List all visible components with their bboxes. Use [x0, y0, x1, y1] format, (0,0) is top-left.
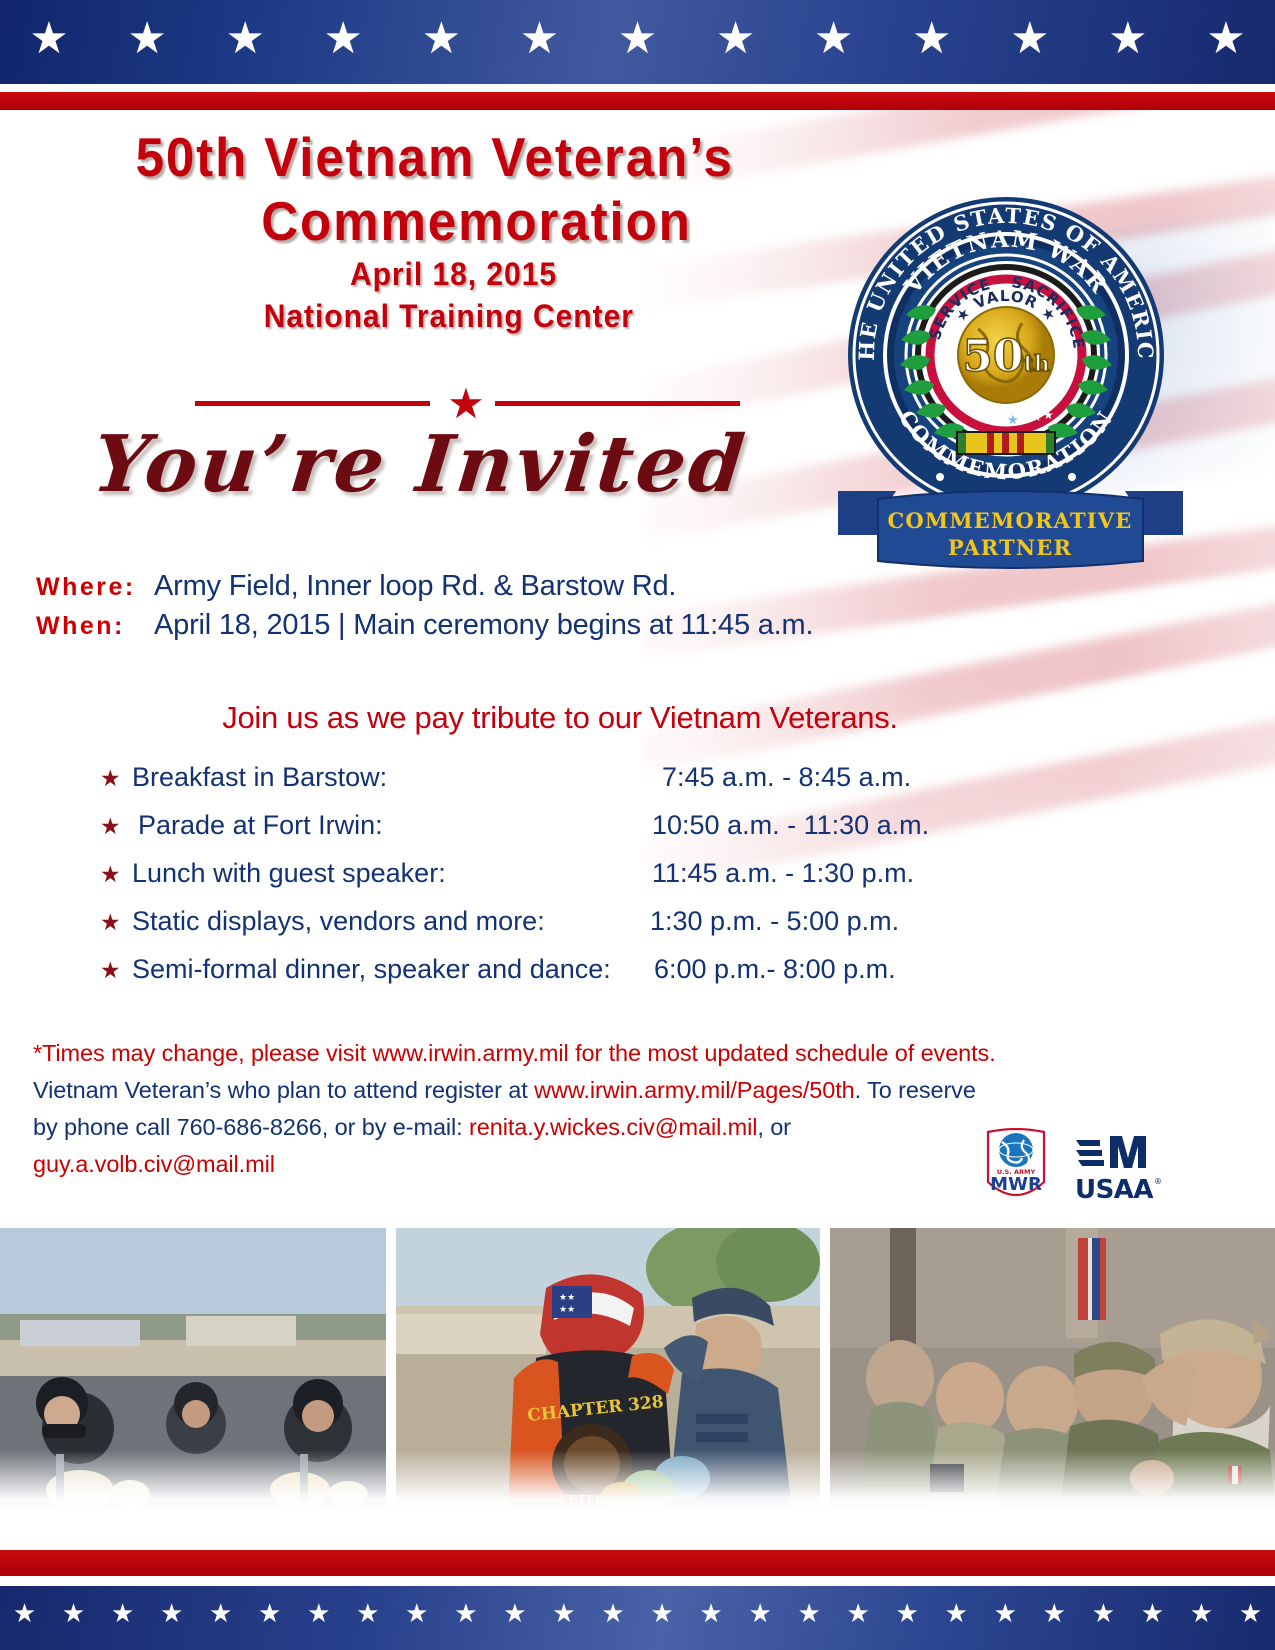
- banner-star-icon: ★: [160, 1600, 184, 1626]
- ribbon-line-1: COMMEMORATIVE: [888, 508, 1133, 533]
- svg-text:★★: ★★: [559, 1304, 575, 1314]
- banner-star-icon: ★: [748, 1600, 772, 1626]
- when-value: April 18, 2015 | Main ceremony begins at…: [154, 609, 813, 642]
- banner-star-icon: ★: [601, 1600, 625, 1626]
- schedule-item-label: Static displays, vendors and more:: [132, 906, 662, 937]
- svg-text:★: ★: [1043, 408, 1054, 422]
- bottom-banner-red-stripe: [0, 1550, 1275, 1576]
- invitation-headline: You’re Invited: [0, 415, 845, 515]
- banner-star-icon: ★: [503, 1600, 527, 1626]
- poster-title-block: 50th Vietnam Veteran’s Commemoration Apr…: [0, 125, 860, 337]
- banner-star-icon: ★: [911, 18, 953, 60]
- event-details: Where: Army Field, Inner loop Rd. & Bars…: [36, 570, 1036, 648]
- banner-star-icon: ★: [405, 1600, 429, 1626]
- svg-text:★: ★: [996, 414, 1006, 426]
- top-decorative-banner: ★★★★★★★★★★★★★: [0, 0, 1275, 100]
- schedule-item-time: 1:30 p.m. - 5:00 p.m.: [650, 906, 899, 937]
- page-title-line-2: Commemoration: [30, 189, 830, 253]
- divider-line-right: [495, 401, 740, 406]
- footnote-contact-part-a: by phone call 760-686-8266, or by e-mail…: [33, 1114, 469, 1140]
- schedule-item-time: 7:45 a.m. - 8:45 a.m.: [662, 762, 911, 793]
- schedule-bullet-star-icon: ★: [100, 959, 132, 982]
- banner-star-icon: ★: [1238, 1600, 1262, 1626]
- usaa-logo-icon: USAA ®: [1070, 1132, 1162, 1204]
- page-subtitle-location: National Training Center: [26, 295, 834, 337]
- banner-star-icon: ★: [307, 1600, 331, 1626]
- svg-text:★: ★: [1007, 412, 1019, 427]
- svg-text:★: ★: [984, 412, 994, 424]
- page-subtitle-date: April 18, 2015: [26, 253, 834, 295]
- contact-email-primary[interactable]: renita.y.wickes.civ@mail.mil: [469, 1114, 757, 1140]
- banner-star-icon: ★: [715, 18, 757, 60]
- when-row: When: April 18, 2015 | Main ceremony beg…: [36, 609, 1036, 642]
- mwr-main-label: MWR: [990, 1174, 1042, 1195]
- schedule-bullet-star-icon: ★: [100, 911, 132, 934]
- bottom-banner-white-stripe: [0, 1576, 1275, 1586]
- vietnam-war-commemoration-seal-icon: ★★ ★ ★ ★★ ★ THE UNITED STATES OF AMERICA…: [846, 195, 1166, 515]
- schedule-row: ★Lunch with guest speaker:11:45 a.m. - 1…: [100, 858, 1110, 906]
- banner-star-icon: ★: [356, 1600, 380, 1626]
- banner-star-icon: ★: [126, 18, 168, 60]
- usaa-registered-mark: ®: [1154, 1177, 1162, 1186]
- when-label: When:: [36, 612, 154, 641]
- schedule-bullet-star-icon: ★: [100, 767, 132, 790]
- banner-star-icon: ★: [209, 1600, 233, 1626]
- top-banner-star-row: ★★★★★★★★★★★★★: [0, 0, 1275, 84]
- schedule-item-label: Parade at Fort Irwin:: [132, 810, 662, 841]
- banner-star-icon: ★: [1009, 18, 1051, 60]
- commemoration-seal: ★★ ★ ★ ★★ ★ THE UNITED STATES OF AMERICA…: [838, 195, 1183, 575]
- page-title-line-1: 50th Vietnam Veteran’s: [30, 125, 830, 189]
- schedule-item-time: 10:50 a.m. - 11:30 a.m.: [652, 810, 929, 841]
- schedule-item-time: 11:45 a.m. - 1:30 p.m.: [652, 858, 914, 889]
- schedule-item-label: Lunch with guest speaker:: [132, 858, 662, 889]
- divider: ★: [195, 388, 740, 418]
- banner-star-icon: ★: [797, 1600, 821, 1626]
- banner-star-icon: ★: [617, 18, 659, 60]
- schedule-row: ★Breakfast in Barstow:7:45 a.m. - 8:45 a…: [100, 762, 1110, 810]
- army-mwr-logo-icon: U.S. ARMY MWR: [980, 1128, 1052, 1204]
- banner-star-icon: ★: [1140, 1600, 1164, 1626]
- footnote-register-part-c: . To reserve: [855, 1077, 976, 1103]
- schedule-row: ★Semi-formal dinner, speaker and dance:6…: [100, 954, 1110, 1002]
- banner-star-icon: ★: [518, 18, 560, 60]
- banner-star-icon: ★: [699, 1600, 723, 1626]
- registration-url[interactable]: www.irwin.army.mil/Pages/50th: [534, 1077, 855, 1103]
- banner-star-icon: ★: [944, 1600, 968, 1626]
- banner-star-icon: ★: [322, 18, 364, 60]
- top-banner-white-stripe: [0, 84, 1275, 92]
- banner-star-icon: ★: [62, 1600, 86, 1626]
- banner-star-icon: ★: [420, 18, 462, 60]
- banner-star-icon: ★: [993, 1600, 1017, 1626]
- bottom-banner-star-row: ★★★★★★★★★★★★★★★★★★★★★★★★★★: [0, 1586, 1275, 1650]
- banner-star-icon: ★: [1091, 1600, 1115, 1626]
- banner-star-icon: ★: [895, 1600, 919, 1626]
- tribute-line: Join us as we pay tribute to our Vietnam…: [0, 700, 1120, 736]
- footnote-register: Vietnam Veteran’s who plan to attend reg…: [33, 1072, 1213, 1109]
- schedule-list: ★Breakfast in Barstow:7:45 a.m. - 8:45 a…: [100, 762, 1110, 1002]
- top-banner-red-stripe: [0, 92, 1275, 110]
- usaa-wordmark: USAA: [1075, 1175, 1153, 1204]
- photo-veterans-saluting: [830, 1228, 1275, 1510]
- schedule-item-time: 6:00 p.m.- 8:00 p.m.: [654, 954, 896, 985]
- footnote-times-may-change: *Times may change, please visit www.irwi…: [33, 1035, 1213, 1072]
- photo-motorcycle-riders: [0, 1228, 386, 1510]
- banner-star-icon: ★: [650, 1600, 674, 1626]
- sponsor-logos: U.S. ARMY MWR USAA ®: [980, 1128, 1170, 1208]
- banner-star-icon: ★: [13, 1600, 37, 1626]
- footnote-register-part-a: Vietnam Veteran’s who plan to attend reg…: [33, 1077, 534, 1103]
- banner-star-icon: ★: [258, 1600, 282, 1626]
- svg-text:★★: ★★: [559, 1292, 575, 1302]
- photo-veteran-and-sailor-saluting: ★★★★ CHAPTER 328 VETERAN: [396, 1228, 820, 1510]
- banner-star-icon: ★: [454, 1600, 478, 1626]
- banner-star-icon: ★: [28, 18, 70, 60]
- schedule-bullet-star-icon: ★: [100, 863, 132, 886]
- banner-star-icon: ★: [1042, 1600, 1066, 1626]
- schedule-bullet-star-icon: ★: [100, 815, 132, 838]
- banner-star-icon: ★: [813, 18, 855, 60]
- where-row: Where: Army Field, Inner loop Rd. & Bars…: [36, 570, 1036, 603]
- banner-star-icon: ★: [224, 18, 266, 60]
- banner-star-icon: ★: [552, 1600, 576, 1626]
- banner-star-icon: ★: [846, 1600, 870, 1626]
- svg-text:★: ★: [1020, 414, 1030, 426]
- banner-star-icon: ★: [1107, 18, 1149, 60]
- svg-text:★: ★: [972, 408, 983, 422]
- schedule-row: ★Parade at Fort Irwin:10:50 a.m. - 11:30…: [100, 810, 1110, 858]
- commemorative-partner-ribbon: COMMEMORATIVE PARTNER: [838, 483, 1183, 575]
- schedule-item-label: Semi-formal dinner, speaker and dance:: [132, 954, 662, 985]
- where-value: Army Field, Inner loop Rd. & Barstow Rd.: [154, 570, 676, 603]
- banner-star-icon: ★: [1205, 18, 1247, 60]
- footnote-contact-part-c: , or: [757, 1114, 791, 1140]
- bottom-decorative-banner: ★★★★★★★★★★★★★★★★★★★★★★★★★★: [0, 1550, 1275, 1650]
- divider-line-left: [195, 401, 430, 406]
- schedule-item-label: Breakfast in Barstow:: [132, 762, 662, 793]
- photo-strip: ★★★★ CHAPTER 328 VETERAN: [0, 1228, 1275, 1510]
- banner-star-icon: ★: [111, 1600, 135, 1626]
- banner-star-icon: ★: [1189, 1600, 1213, 1626]
- svg-text:★: ★: [1032, 412, 1042, 424]
- ribbon-line-2: PARTNER: [948, 535, 1072, 560]
- where-label: Where:: [36, 573, 154, 602]
- schedule-row: ★Static displays, vendors and more:1:30 …: [100, 906, 1110, 954]
